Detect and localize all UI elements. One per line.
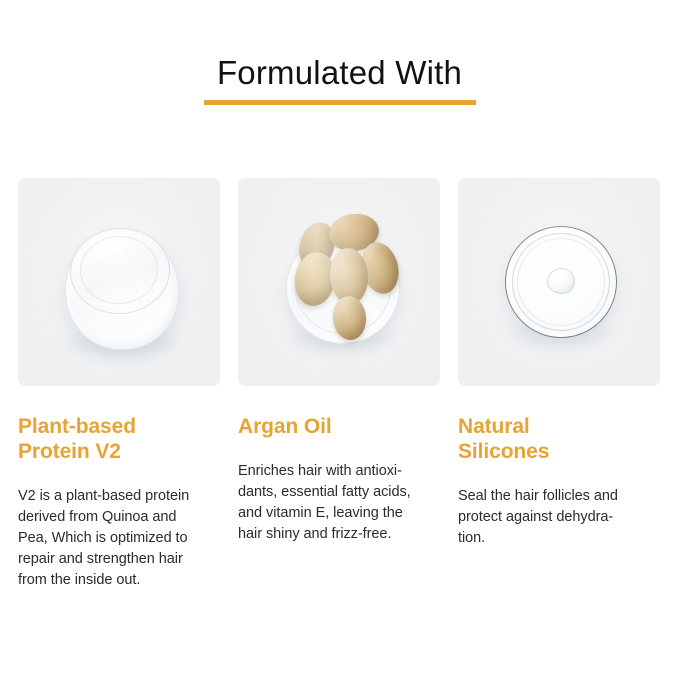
- ingredient-heading: Natural Silicones: [458, 414, 660, 464]
- ingredient-image-card: [18, 178, 220, 386]
- page-title-block: Formulated With: [0, 52, 679, 105]
- ingredient-column-argan-oil: Argan Oil Enriches hair with antioxi- da…: [238, 178, 440, 591]
- ingredient-description: Enriches hair with antioxi- dants, essen…: [238, 461, 440, 545]
- clear-glass-dish-photo: [18, 178, 220, 386]
- title-underline: [204, 100, 476, 105]
- ingredient-image-card: [238, 178, 440, 386]
- ingredient-description: V2 is a plant-based protein derived from…: [18, 486, 220, 591]
- ingredient-image-card: [458, 178, 660, 386]
- ingredient-heading: Argan Oil: [238, 414, 440, 439]
- page-title: Formulated With: [215, 52, 464, 100]
- ingredient-column-plant-based-protein: Plant-based Protein V2 V2 is a plant-bas…: [18, 178, 220, 591]
- silicone-petri-dish-photo: [458, 178, 660, 386]
- ingredient-description: Seal the hair follicles and protect agai…: [458, 486, 660, 549]
- argan-nuts-photo: [238, 178, 440, 386]
- ingredient-column-natural-silicones: Natural Silicones Seal the hair follicle…: [458, 178, 660, 591]
- formulated-with-page: Formulated With Plant-based Protein V2 V…: [0, 0, 679, 679]
- ingredient-heading: Plant-based Protein V2: [18, 414, 220, 464]
- silicone-droplet: [547, 268, 575, 294]
- ingredient-columns: Plant-based Protein V2 V2 is a plant-bas…: [18, 178, 661, 591]
